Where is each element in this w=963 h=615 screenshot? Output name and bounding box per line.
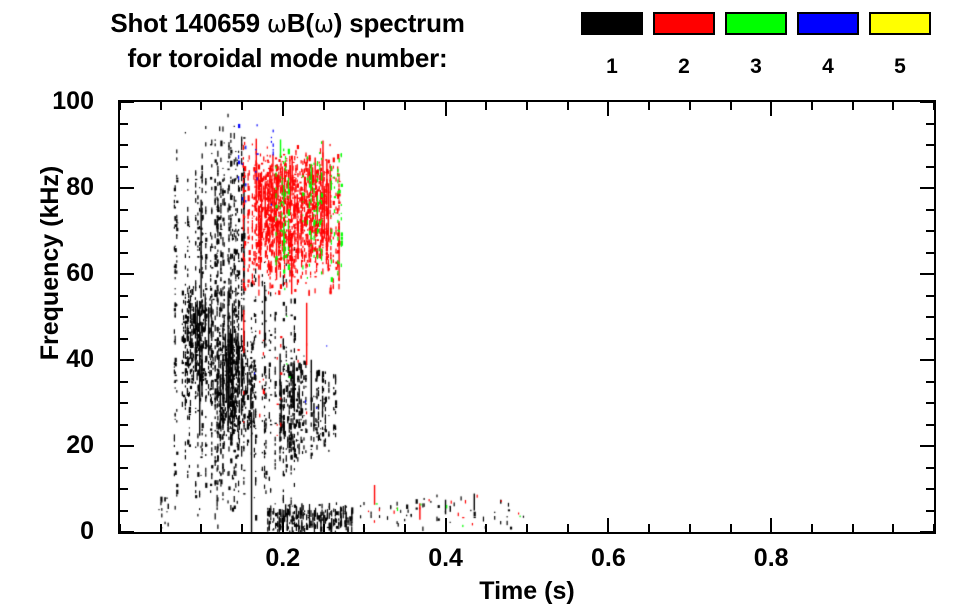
legend-item-5: 5 [869,12,931,77]
y-tick-mark [920,531,934,533]
x-tick-label-0.6: 0.6 [563,546,653,571]
y-tick-mark [120,445,134,447]
legend-item-2: 2 [653,12,715,77]
y-tick-mark [926,488,934,490]
x-tick-mark [607,102,609,116]
x-tick-mark [852,102,854,110]
y-tick-mark [926,123,934,125]
y-tick-label-60: 60 [66,261,106,286]
legend-swatch-5 [869,12,931,35]
y-tick-mark [926,381,934,383]
x-tick-mark [811,524,813,532]
x-tick-mark [933,524,935,532]
legend-label-1: 1 [581,56,643,77]
y-tick-mark [120,359,134,361]
x-tick-mark [241,102,243,110]
y-tick-mark [120,252,128,254]
y-tick-mark [926,144,934,146]
y-tick-mark [120,402,128,404]
omega-symbol-2: ω [314,10,334,38]
y-tick-mark [926,510,934,512]
legend-label-2: 2 [653,56,715,77]
x-tick-mark [933,102,935,110]
y-tick-mark [120,230,128,232]
x-tick-mark [648,102,650,110]
x-tick-mark [567,524,569,532]
chart-title: Shot 140659 ωB(ω) spectrum for toroidal … [0,6,575,75]
y-tick-mark [120,510,128,512]
x-tick-mark [282,518,284,532]
y-tick-mark [120,144,128,146]
y-tick-mark [120,295,128,297]
y-tick-mark [926,316,934,318]
legend-label-4: 4 [797,56,859,77]
x-tick-mark [200,524,202,532]
y-tick-mark [120,273,134,275]
y-tick-mark [120,467,128,469]
x-tick-mark [892,102,894,110]
x-tick-mark [811,102,813,110]
x-tick-mark [363,524,365,532]
y-tick-label-100: 100 [52,89,106,114]
x-tick-mark [445,518,447,532]
legend-label-3: 3 [725,56,787,77]
y-axis-tick-labels: 020406080100 [0,100,106,534]
x-tick-mark [323,102,325,110]
legend-item-3: 3 [725,12,787,77]
y-tick-mark [926,338,934,340]
y-tick-mark [920,101,934,103]
legend-swatch-1 [581,12,643,35]
y-tick-label-0: 0 [80,519,106,544]
legend-swatch-3 [725,12,787,35]
y-tick-mark [120,488,128,490]
x-tick-mark [567,102,569,110]
legend: 12345 [575,12,955,92]
y-tick-mark [920,273,934,275]
y-tick-mark [920,187,934,189]
y-tick-mark [120,187,134,189]
y-tick-label-40: 40 [66,347,106,372]
y-tick-mark [926,209,934,211]
y-tick-mark [120,381,128,383]
x-tick-mark [526,524,528,532]
x-tick-mark [241,524,243,532]
y-tick-mark [120,531,134,533]
y-tick-mark [120,338,128,340]
x-tick-mark [689,524,691,532]
x-axis-title: Time (s) [118,578,936,605]
legend-swatch-4 [797,12,859,35]
x-tick-mark [892,524,894,532]
y-tick-label-20: 20 [66,433,106,458]
legend-item-1: 1 [581,12,643,77]
x-tick-mark [160,102,162,110]
y-tick-mark [120,316,128,318]
legend-label-5: 5 [869,56,931,77]
x-tick-mark [526,102,528,110]
x-tick-mark [363,102,365,110]
y-tick-mark [920,445,934,447]
x-tick-mark [770,518,772,532]
legend-swatch-2 [653,12,715,35]
x-tick-mark [200,102,202,110]
y-tick-mark [920,359,934,361]
x-tick-mark [119,524,121,532]
x-tick-mark [852,524,854,532]
omega-symbol-1: ω [267,10,287,38]
x-tick-mark [282,102,284,116]
chart-title-line-2: for toroidal mode number: [0,41,575,75]
y-tick-mark [926,166,934,168]
y-tick-mark [120,101,134,103]
y-tick-mark [120,209,128,211]
x-tick-mark [445,102,447,116]
plot-area [118,100,936,534]
x-tick-label-0.8: 0.8 [726,546,816,571]
x-tick-mark [404,102,406,110]
x-tick-label-0.2: 0.2 [238,546,328,571]
x-axis-tick-labels: 0.20.40.60.8 [118,546,936,578]
y-tick-mark [926,252,934,254]
x-tick-mark [323,524,325,532]
x-tick-mark [730,524,732,532]
x-tick-mark [607,518,609,532]
spectrogram-data-canvas [120,102,934,532]
x-tick-mark [404,524,406,532]
x-tick-mark [770,102,772,116]
y-tick-mark [926,295,934,297]
x-tick-mark [648,524,650,532]
x-tick-label-0.4: 0.4 [401,546,491,571]
x-tick-mark [689,102,691,110]
y-tick-mark [120,123,128,125]
x-tick-mark [160,524,162,532]
x-tick-mark [730,102,732,110]
y-tick-mark [926,424,934,426]
x-tick-mark [485,524,487,532]
y-tick-mark [926,230,934,232]
spectrogram-figure: Shot 140659 ωB(ω) spectrum for toroidal … [0,0,963,615]
legend-item-4: 4 [797,12,859,77]
chart-title-line-1: Shot 140659 ωB(ω) spectrum [0,6,575,41]
y-tick-label-80: 80 [66,175,106,200]
x-tick-mark [119,102,121,110]
y-tick-mark [120,166,128,168]
y-tick-mark [926,402,934,404]
y-tick-mark [120,424,128,426]
y-tick-mark [926,467,934,469]
x-tick-mark [485,102,487,110]
